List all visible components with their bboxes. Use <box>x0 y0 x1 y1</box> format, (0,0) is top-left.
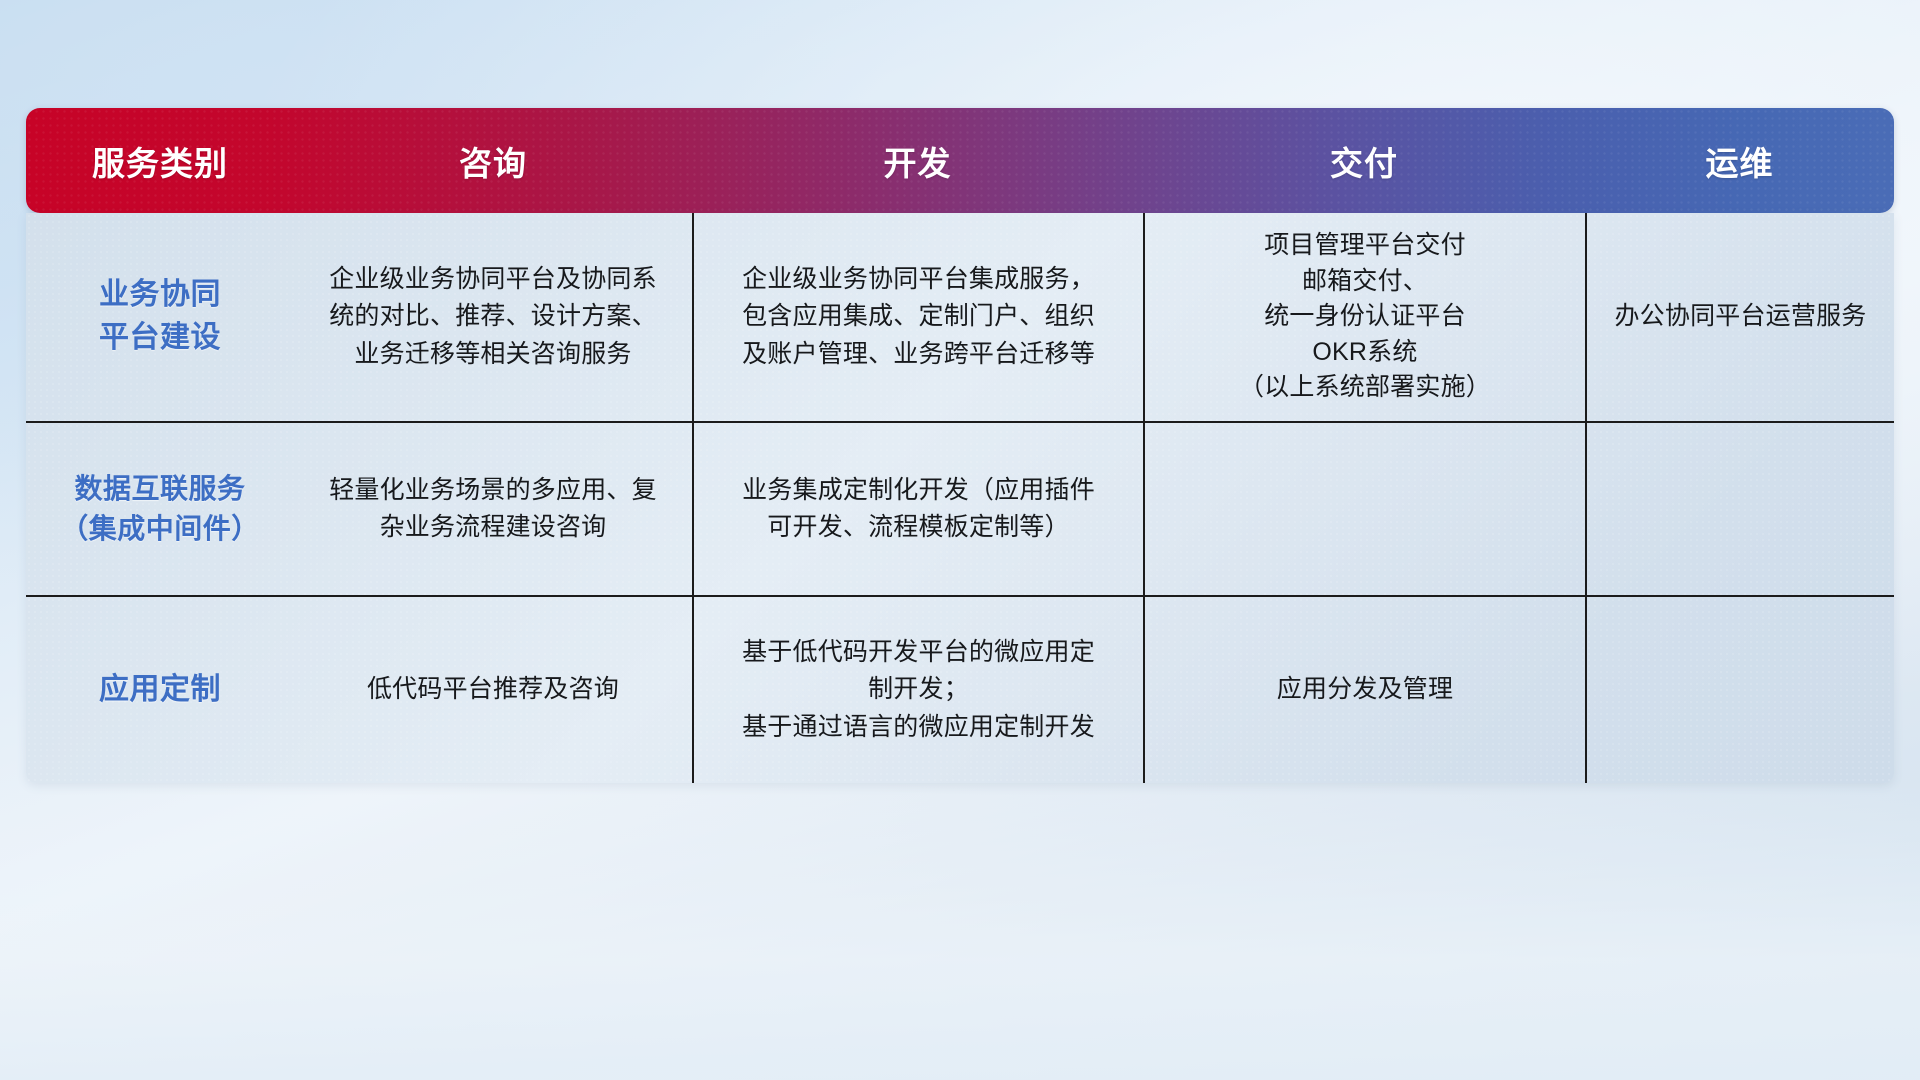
table-header-row: 服务类别 咨询 开发 交付 运维 <box>26 108 1894 213</box>
service-matrix-table: 服务类别 咨询 开发 交付 运维 业务协同 平台建设 企业级业务协同平台及协同系 <box>26 108 1894 783</box>
row-label-line: 数据互联服务 <box>60 469 260 509</box>
cell-development: 企业级业务协同平台集成服务， 包含应用集成、定制门户、组织 及账户管理、业务跨平… <box>692 213 1143 421</box>
cell-text: 基于低代码开发平台的微应用定 制开发； 基于通过语言的微应用定制开发 <box>742 634 1095 747</box>
cell-text-line: 应用分发及管理 <box>1277 671 1453 709</box>
cell-text-line: 包含应用集成、定制门户、组织 <box>742 298 1095 336</box>
cell-delivery <box>1143 423 1585 595</box>
cell-delivery: 应用分发及管理 <box>1143 597 1585 783</box>
cell-text: 项目管理平台交付 邮箱交付、 统一身份认证平台 OKR系统 （以上系统部署实施） <box>1239 228 1491 406</box>
cell-text-line: 杂业务流程建设咨询 <box>329 509 657 547</box>
cell-text-line: 低代码平台推荐及咨询 <box>367 671 619 709</box>
cell-development: 业务集成定制化开发（应用插件 可开发、流程模板定制等） <box>692 423 1143 595</box>
row-label-line: 业务协同 <box>99 274 221 317</box>
cell-text: 低代码平台推荐及咨询 <box>367 671 619 709</box>
table-row: 数据互联服务 （集成中间件） 轻量化业务场景的多应用、复 杂业务流程建设咨询 业… <box>26 423 1894 597</box>
row-label-line: 应用定制 <box>99 669 221 712</box>
cell-text: 轻量化业务场景的多应用、复 杂业务流程建设咨询 <box>329 472 657 547</box>
cell-operations: 办公协同平台运营服务 <box>1585 213 1894 421</box>
cell-text-line: （以上系统部署实施） <box>1239 370 1491 406</box>
cell-text-line: 轻量化业务场景的多应用、复 <box>329 472 657 510</box>
row-label-business-collaboration-platform: 业务协同 平台建设 <box>99 274 221 359</box>
row-label-cell: 数据互联服务 （集成中间件） <box>26 423 294 595</box>
column-header-development: 开发 <box>692 108 1143 213</box>
column-header-consulting: 咨询 <box>294 108 692 213</box>
row-label-cell: 应用定制 <box>26 597 294 783</box>
cell-development: 基于低代码开发平台的微应用定 制开发； 基于通过语言的微应用定制开发 <box>692 597 1143 783</box>
cell-text-line: 基于通过语言的微应用定制开发 <box>742 709 1095 747</box>
cell-text: 业务集成定制化开发（应用插件 可开发、流程模板定制等） <box>742 472 1095 547</box>
cell-text-line: 办公协同平台运营服务 <box>1614 298 1866 336</box>
cell-text: 企业级业务协同平台及协同系 统的对比、推荐、设计方案、 业务迁移等相关咨询服务 <box>329 261 657 374</box>
cell-text-line: 可开发、流程模板定制等） <box>742 509 1095 547</box>
cell-operations <box>1585 597 1894 783</box>
cell-text-line: 制开发； <box>742 671 1095 709</box>
row-label-line: 平台建设 <box>99 317 221 360</box>
row-label-cell: 业务协同 平台建设 <box>26 213 294 421</box>
column-header-operations: 运维 <box>1585 108 1894 213</box>
cell-text-line: 项目管理平台交付 <box>1239 228 1491 264</box>
cell-text-line: OKR系统 <box>1239 335 1491 371</box>
table-row: 业务协同 平台建设 企业级业务协同平台及协同系 统的对比、推荐、设计方案、 业务… <box>26 213 1894 423</box>
table-body: 业务协同 平台建设 企业级业务协同平台及协同系 统的对比、推荐、设计方案、 业务… <box>26 213 1894 783</box>
cell-text-line: 企业级业务协同平台集成服务， <box>742 261 1095 299</box>
cell-consulting: 低代码平台推荐及咨询 <box>294 597 692 783</box>
row-label-line: （集成中间件） <box>60 509 260 549</box>
cell-text-line: 业务迁移等相关咨询服务 <box>329 336 657 374</box>
cell-text: 办公协同平台运营服务 <box>1614 298 1866 336</box>
cell-operations <box>1585 423 1894 595</box>
column-header-category: 服务类别 <box>26 108 294 213</box>
column-header-delivery: 交付 <box>1143 108 1585 213</box>
cell-text-line: 企业级业务协同平台及协同系 <box>329 261 657 299</box>
cell-text: 企业级业务协同平台集成服务， 包含应用集成、定制门户、组织 及账户管理、业务跨平… <box>742 261 1095 374</box>
cell-consulting: 轻量化业务场景的多应用、复 杂业务流程建设咨询 <box>294 423 692 595</box>
table-row: 应用定制 低代码平台推荐及咨询 基于低代码开发平台的微应用定 制开发； 基于通过… <box>26 597 1894 783</box>
cell-text-line: 统的对比、推荐、设计方案、 <box>329 298 657 336</box>
cell-text-line: 基于低代码开发平台的微应用定 <box>742 634 1095 672</box>
cell-delivery: 项目管理平台交付 邮箱交付、 统一身份认证平台 OKR系统 （以上系统部署实施） <box>1143 213 1585 421</box>
cell-text-line: 邮箱交付、 <box>1239 264 1491 300</box>
cell-text-line: 业务集成定制化开发（应用插件 <box>742 472 1095 510</box>
cell-text: 应用分发及管理 <box>1277 671 1453 709</box>
cell-consulting: 企业级业务协同平台及协同系 统的对比、推荐、设计方案、 业务迁移等相关咨询服务 <box>294 213 692 421</box>
row-label-data-interconnect-service: 数据互联服务 （集成中间件） <box>60 469 260 549</box>
row-label-application-customization: 应用定制 <box>99 669 221 712</box>
cell-text-line: 及账户管理、业务跨平台迁移等 <box>742 336 1095 374</box>
page-background: 服务类别 咨询 开发 交付 运维 业务协同 平台建设 企业级业务协同平台及协同系 <box>0 0 1920 1080</box>
cell-text-line: 统一身份认证平台 <box>1239 299 1491 335</box>
